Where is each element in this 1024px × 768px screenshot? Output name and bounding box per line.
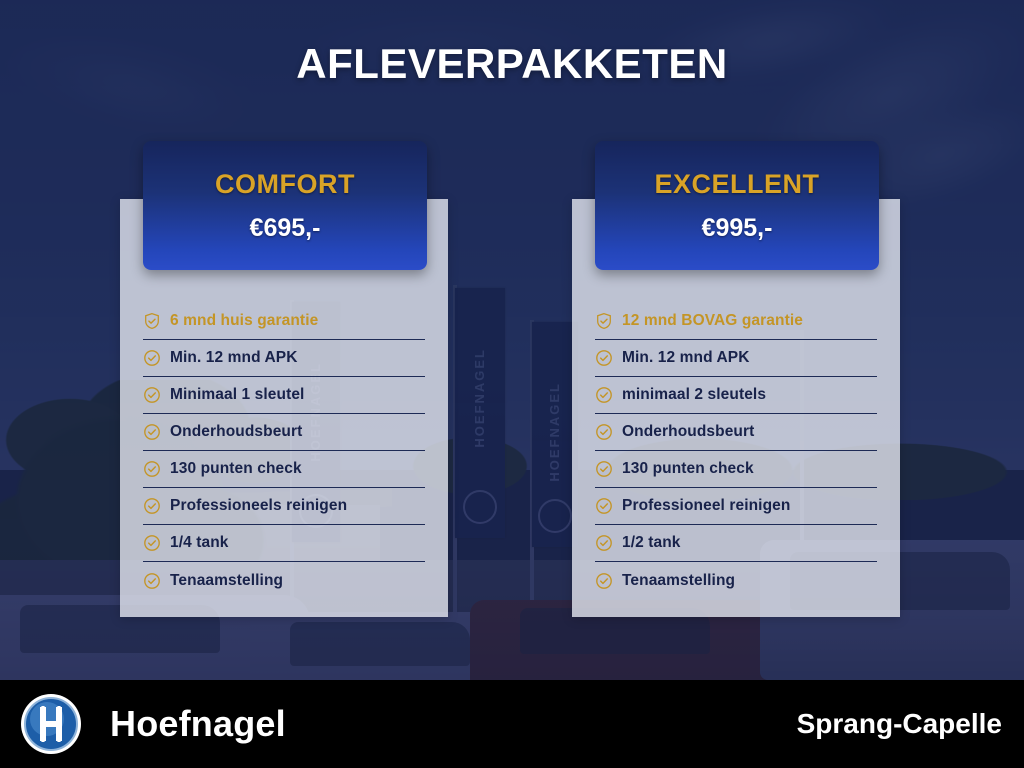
footer-bar: Hoefnagel Sprang-Capelle — [0, 680, 1024, 768]
list-item: minimaal 2 sleutels — [595, 377, 877, 414]
list-item: Onderhoudsbeurt — [595, 414, 877, 451]
feature-label: 6 mnd huis garantie — [170, 312, 318, 330]
list-item: Professioneels reinigen — [143, 488, 425, 525]
feature-label: 130 punten check — [170, 460, 302, 478]
list-item: Tenaamstelling — [595, 562, 877, 599]
feature-label: Min. 12 mnd APK — [622, 349, 750, 367]
circle-check-icon — [595, 534, 613, 552]
location-label: Sprang-Capelle — [797, 708, 1002, 740]
feature-label: minimaal 2 sleutels — [622, 386, 766, 404]
list-item: 1/2 tank — [595, 525, 877, 562]
list-item: Tenaamstelling — [143, 562, 425, 599]
hoefnagel-logo-icon — [20, 693, 82, 755]
feature-label: 1/2 tank — [622, 534, 681, 552]
brand-name: Hoefnagel — [110, 703, 286, 745]
package-name: EXCELLENT — [654, 169, 819, 200]
feature-label: Onderhoudsbeurt — [170, 423, 302, 441]
package-price: €695,- — [250, 214, 321, 243]
circle-check-icon — [595, 386, 613, 404]
list-item: 130 punten check — [595, 451, 877, 488]
feature-label: 1/4 tank — [170, 534, 229, 552]
card-header: COMFORT €695,- — [143, 141, 427, 270]
circle-check-icon — [595, 423, 613, 441]
circle-check-icon — [143, 534, 161, 552]
package-price: €995,- — [702, 214, 773, 243]
circle-check-icon — [143, 423, 161, 441]
feature-label: 12 mnd BOVAG garantie — [622, 312, 803, 330]
feature-label: Onderhoudsbeurt — [622, 423, 754, 441]
circle-check-icon — [143, 349, 161, 367]
feature-label: Tenaamstelling — [622, 572, 735, 590]
list-item: Min. 12 mnd APK — [595, 340, 877, 377]
feature-list: 12 mnd BOVAG garantie Min. 12 mnd APK mi… — [572, 303, 900, 599]
shield-check-icon — [595, 312, 613, 330]
feature-label: Professioneel reinigen — [622, 497, 790, 515]
circle-check-icon — [143, 386, 161, 404]
circle-check-icon — [143, 497, 161, 515]
list-item: 12 mnd BOVAG garantie — [595, 303, 877, 340]
list-item: 1/4 tank — [143, 525, 425, 562]
list-item: Min. 12 mnd APK — [143, 340, 425, 377]
feature-label: Minimaal 1 sleutel — [170, 386, 304, 404]
circle-check-icon — [143, 460, 161, 478]
circle-check-icon — [595, 497, 613, 515]
page-title: AFLEVERPAKKETEN — [0, 40, 1024, 88]
feature-list: 6 mnd huis garantie Min. 12 mnd APK Mini… — [120, 303, 448, 599]
package-name: COMFORT — [215, 169, 355, 200]
circle-check-icon — [595, 349, 613, 367]
feature-label: 130 punten check — [622, 460, 754, 478]
list-item: Onderhoudsbeurt — [143, 414, 425, 451]
circle-check-icon — [595, 460, 613, 478]
list-item: Minimaal 1 sleutel — [143, 377, 425, 414]
list-item: 130 punten check — [143, 451, 425, 488]
feature-label: Min. 12 mnd APK — [170, 349, 298, 367]
circle-check-icon — [143, 572, 161, 590]
card-header: EXCELLENT €995,- — [595, 141, 879, 270]
shield-check-icon — [143, 312, 161, 330]
list-item: Professioneel reinigen — [595, 488, 877, 525]
slide-canvas: HOEFNAGEL HOEFNAGEL HOEFNAGEL — [0, 0, 1024, 768]
feature-label: Professioneels reinigen — [170, 497, 347, 515]
feature-label: Tenaamstelling — [170, 572, 283, 590]
circle-check-icon — [595, 572, 613, 590]
list-item: 6 mnd huis garantie — [143, 303, 425, 340]
